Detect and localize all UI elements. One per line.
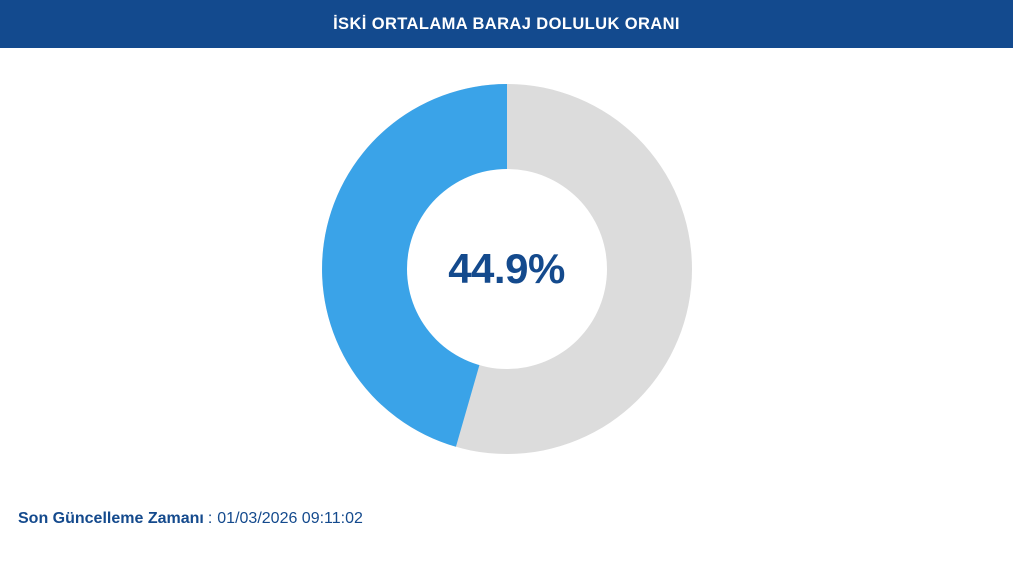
donut-svg (322, 84, 692, 454)
page-root: İSKİ ORTALAMA BARAJ DOLULUK ORANI 44.9% … (0, 0, 1013, 562)
last-update-row: Son Güncelleme Zamanı : 01/03/2026 09:11… (18, 510, 363, 528)
page-title: İSKİ ORTALAMA BARAJ DOLULUK ORANI (333, 15, 680, 34)
last-update-separator: : (208, 510, 212, 528)
donut-hole (407, 169, 607, 369)
last-update-label: Son Güncelleme Zamanı (18, 510, 204, 528)
header-bar: İSKİ ORTALAMA BARAJ DOLULUK ORANI (0, 0, 1013, 48)
last-update-value: 01/03/2026 09:11:02 (217, 510, 363, 528)
dam-occupancy-donut-chart: 44.9% (322, 84, 692, 454)
chart-area: 44.9% (0, 48, 1013, 468)
